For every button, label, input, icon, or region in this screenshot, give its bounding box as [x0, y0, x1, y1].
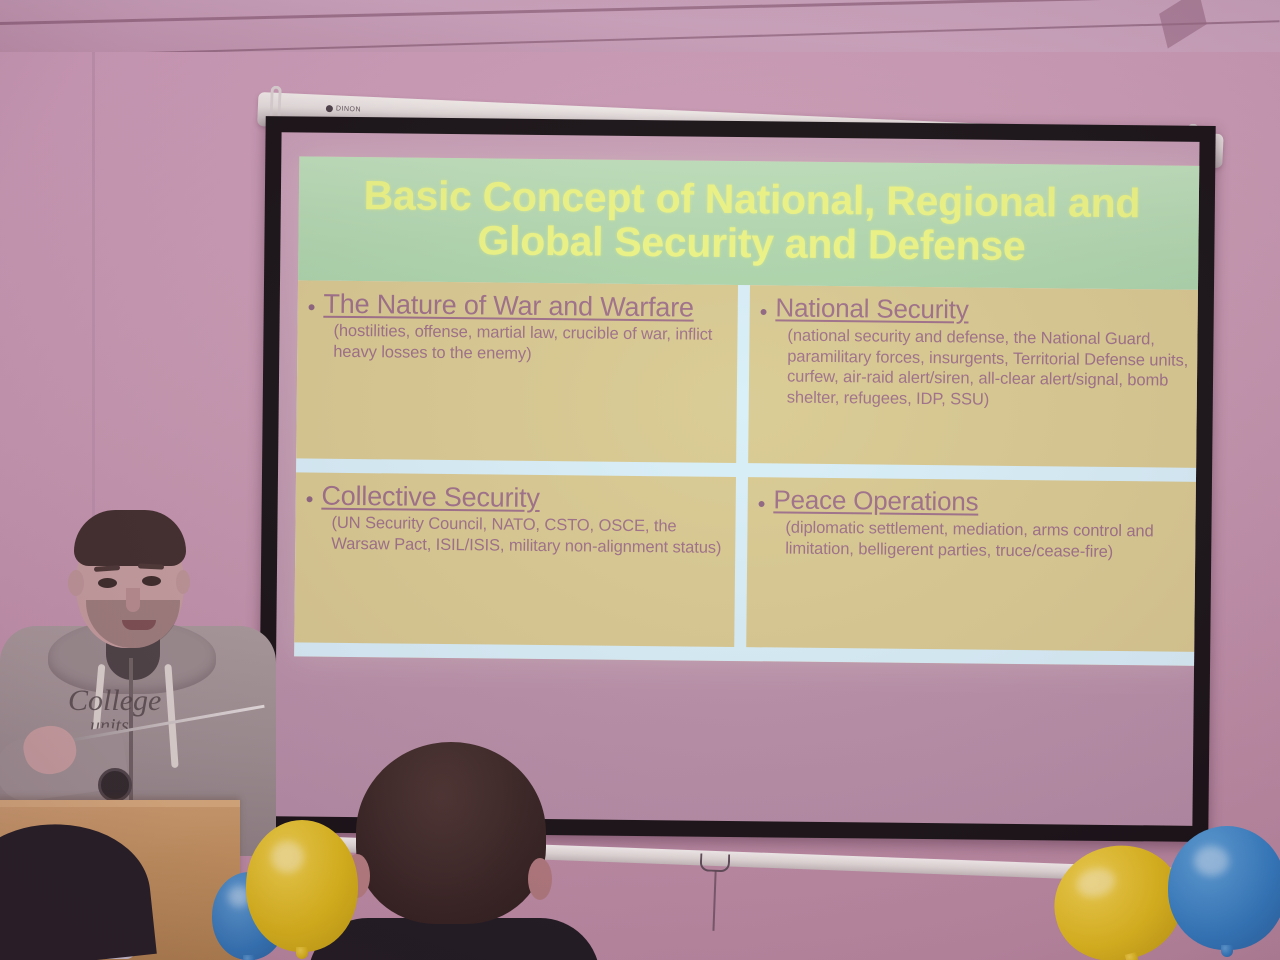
slide-title: Basic Concept of National, Regional and … — [311, 172, 1192, 270]
slide-quadrant-bottom-right: • Peace Operations (diplomatic settlemen… — [746, 477, 1199, 652]
presenter-mouth — [122, 620, 156, 630]
presenter-hair — [74, 510, 186, 566]
roller-logo-text: DINON — [336, 105, 361, 113]
balloon-highlight — [1194, 846, 1229, 876]
slide-quadrant-top-right: • National Security (national security a… — [748, 285, 1199, 468]
presenter-ear-left — [68, 570, 84, 596]
balloon-highlight — [1074, 865, 1118, 901]
bullet-icon: • — [760, 293, 768, 323]
presenter-eye-right — [142, 576, 161, 586]
projected-slide: Basic Concept of National, Regional and … — [294, 156, 1199, 665]
quadrant-heading-row: • Peace Operations — [758, 485, 1190, 520]
bullet-icon: • — [306, 481, 314, 511]
audience-hair — [356, 742, 546, 924]
slide-quadrant-top-left: • The Nature of War and Warfare (hostili… — [296, 280, 738, 463]
hoodie-logo-main: College — [68, 684, 161, 717]
slide-title-band: Basic Concept of National, Regional and … — [298, 156, 1200, 289]
quadrant-heading-row: • The Nature of War and Warfare — [308, 289, 726, 324]
quadrant-heading: National Security — [775, 293, 968, 324]
quadrant-heading: The Nature of War and Warfare — [323, 289, 694, 323]
podium-round-object[interactable] — [98, 768, 132, 802]
quadrant-body-text: (UN Security Council, NATO, CSTO, OSCE, … — [305, 513, 723, 559]
presenter-ear-right — [176, 570, 190, 594]
quadrant-heading-row: • National Security — [760, 293, 1192, 328]
presenter-eye-left — [98, 578, 117, 588]
roller-logo-dot — [326, 105, 333, 112]
audience-shoulders — [308, 918, 600, 960]
presenter-nose — [126, 588, 140, 612]
quadrant-body-text: (diplomatic settlement, mediation, arms … — [757, 517, 1189, 563]
screen-black-border: Basic Concept of National, Regional and … — [258, 116, 1215, 842]
bullet-icon: • — [758, 485, 766, 515]
screen-pull-ring-icon[interactable] — [700, 853, 731, 872]
quadrant-body-text: (national security and defense, the Nati… — [759, 325, 1192, 412]
quadrant-heading: Collective Security — [321, 481, 540, 514]
quadrant-heading: Peace Operations — [773, 485, 978, 516]
balloon-blue-right — [1168, 826, 1280, 950]
balloon-yellow-left — [246, 820, 358, 952]
lecture-room-scene: DINON Basic Concept of National, Regiona… — [0, 0, 1280, 960]
screen-fabric: Basic Concept of National, Regional and … — [274, 132, 1199, 826]
slide-quadrant-bottom-left: • Collective Security (UN Security Counc… — [294, 472, 736, 647]
audience-ear-right — [528, 858, 552, 900]
quadrant-heading-row: • Collective Security — [306, 481, 724, 516]
screen-mount-bracket-left — [270, 86, 282, 116]
slide-quadrant-grid: • The Nature of War and Warfare (hostili… — [294, 280, 1199, 665]
roller-brand-logo: DINON — [326, 105, 361, 114]
quadrant-body-text: (hostilities, offense, martial law, cruc… — [307, 321, 725, 367]
balloon-highlight — [271, 841, 305, 873]
audience-member-center — [344, 742, 562, 960]
bullet-icon: • — [308, 289, 316, 319]
